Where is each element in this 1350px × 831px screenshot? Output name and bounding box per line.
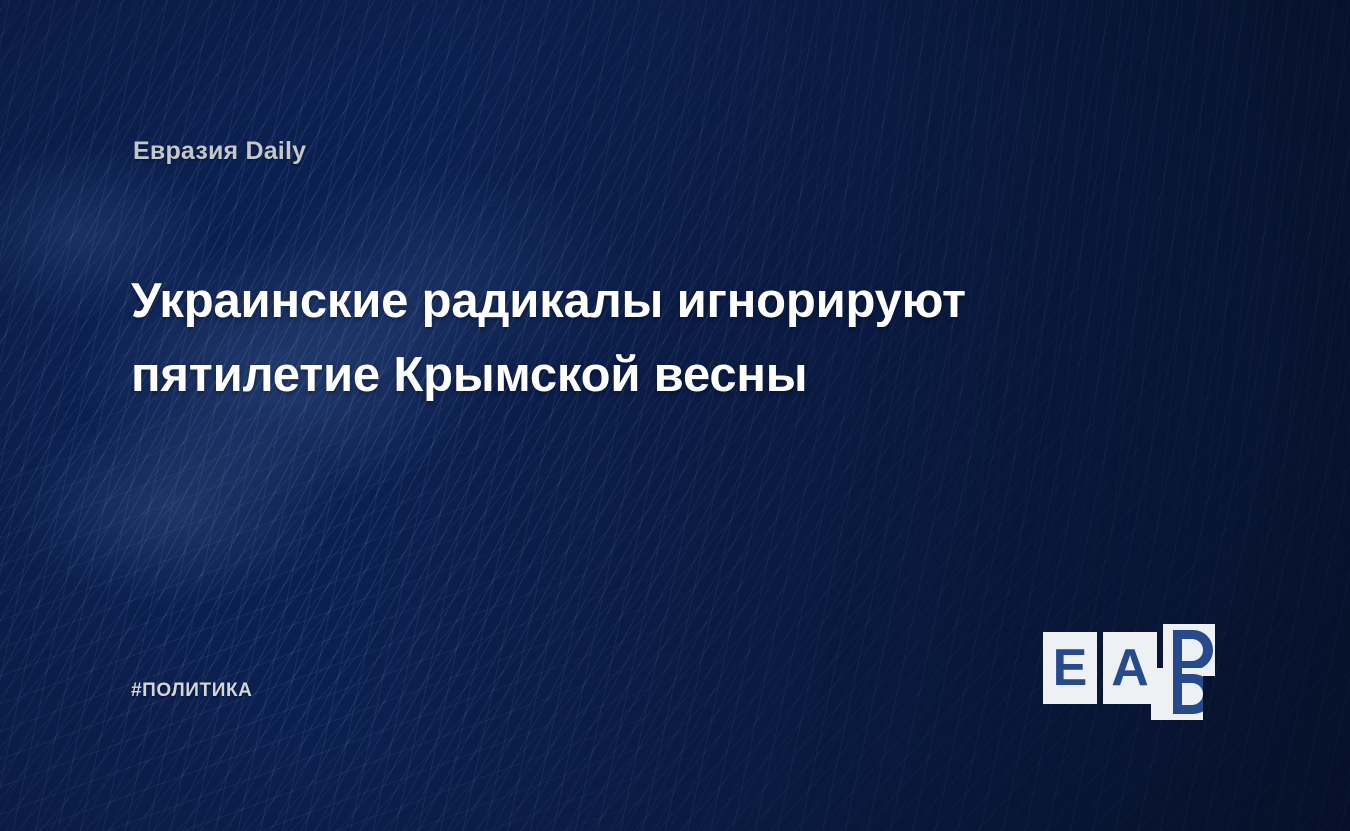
headline: Украинские радикалы игнорируют пятилетие…: [131, 264, 1111, 413]
logo-tile-a: A: [1103, 632, 1157, 704]
logo-letter-d-lower-icon: [1151, 668, 1203, 720]
ead-logo: E A: [1043, 624, 1225, 712]
logo-tile-d-lower: [1151, 668, 1203, 720]
logo-tile-e: E: [1043, 632, 1097, 704]
brand-name: Евразия Daily: [133, 137, 306, 166]
logo-letter-a-icon: A: [1103, 632, 1157, 704]
news-card: Евразия Daily Украинские радикалы игнори…: [0, 0, 1350, 831]
category-tag: #ПОЛИТИКА: [131, 680, 253, 702]
logo-letter-e-icon: E: [1043, 632, 1097, 704]
